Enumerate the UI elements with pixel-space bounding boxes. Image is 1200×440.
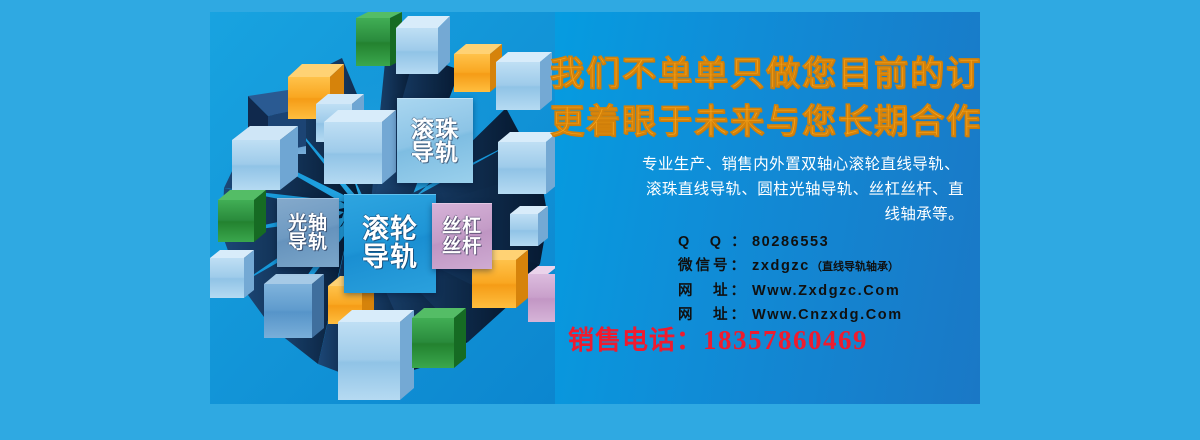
headline-line-1: 我们不单单只做您目前的订单 [550, 46, 966, 95]
contact-row-qq: Q Q ： 80286553 [678, 230, 968, 254]
website-1-label: 网 址： [678, 279, 752, 303]
contact-block: Q Q ： 80286553 微信号： zxdgzc （直线导轨轴承） 网 址：… [678, 230, 968, 327]
cube-burst-illustration: 滚珠 导轨 光轴 导轨 滚轮 导轨 丝杠 丝杆 [210, 12, 555, 404]
contact-row-website-1[interactable]: 网 址： Www.Zxdgzc.Com [678, 279, 968, 303]
cube-label-line2: 导轨 [288, 233, 328, 252]
sales-phone-label: 销售电话： [568, 325, 703, 355]
headline-line-2: 更着眼于未来与您长期合作 [550, 94, 966, 143]
qq-value: 80286553 [752, 230, 829, 254]
cube-label-line1: 丝杠 [442, 217, 482, 236]
website-1-value[interactable]: Www.Zxdgzc.Com [752, 279, 900, 303]
cube-label-lead-screw: 丝杠 丝杆 [432, 203, 492, 269]
banner-copy: 我们不单单只做您目前的订单 更着眼于未来与您长期合作 专业生产、销售内外置双轴心… [550, 12, 980, 404]
cube-label-line1: 光轴 [288, 214, 328, 233]
sales-phone: 销售电话：18357860469 [568, 320, 968, 357]
cube-label-line2: 导轨 [362, 244, 418, 272]
cube-label-roller-rail: 滚轮 导轨 [344, 194, 436, 293]
description-line-2: 滚珠直线导轨、圆柱光轴导轨、丝杠丝杆、直 [564, 177, 964, 202]
wechat-note: （直线导轨轴承） [811, 255, 899, 279]
description-line-3: 线轴承等。 [564, 202, 964, 227]
cube-label-ball-rail: 滚珠 导轨 [397, 98, 473, 183]
qq-label: Q Q ： [678, 230, 752, 254]
description-line-1: 专业生产、销售内外置双轴心滚轮直线导轨、 [564, 152, 964, 177]
product-description: 专业生产、销售内外置双轴心滚轮直线导轨、 滚珠直线导轨、圆柱光轴导轨、丝杠丝杆、… [564, 152, 964, 227]
cube-label-line2: 导轨 [411, 141, 459, 164]
cube-label-line1: 滚轮 [362, 216, 418, 244]
promo-banner: 滚珠 导轨 光轴 导轨 滚轮 导轨 丝杠 丝杆 我们不单单只做您目前的订单 更着… [210, 12, 980, 404]
wechat-label: 微信号： [678, 254, 752, 278]
wechat-value: zxdgzc [752, 254, 810, 278]
page-root: 滚珠 导轨 光轴 导轨 滚轮 导轨 丝杠 丝杆 我们不单单只做您目前的订单 更着… [0, 0, 1200, 440]
sales-phone-number[interactable]: 18357860469 [703, 325, 868, 355]
cube-label-line1: 滚珠 [411, 118, 459, 141]
cube-label-shaft-rail: 光轴 导轨 [277, 198, 339, 267]
contact-row-wechat: 微信号： zxdgzc （直线导轨轴承） [678, 254, 968, 279]
cube-label-line2: 丝杆 [442, 237, 482, 256]
